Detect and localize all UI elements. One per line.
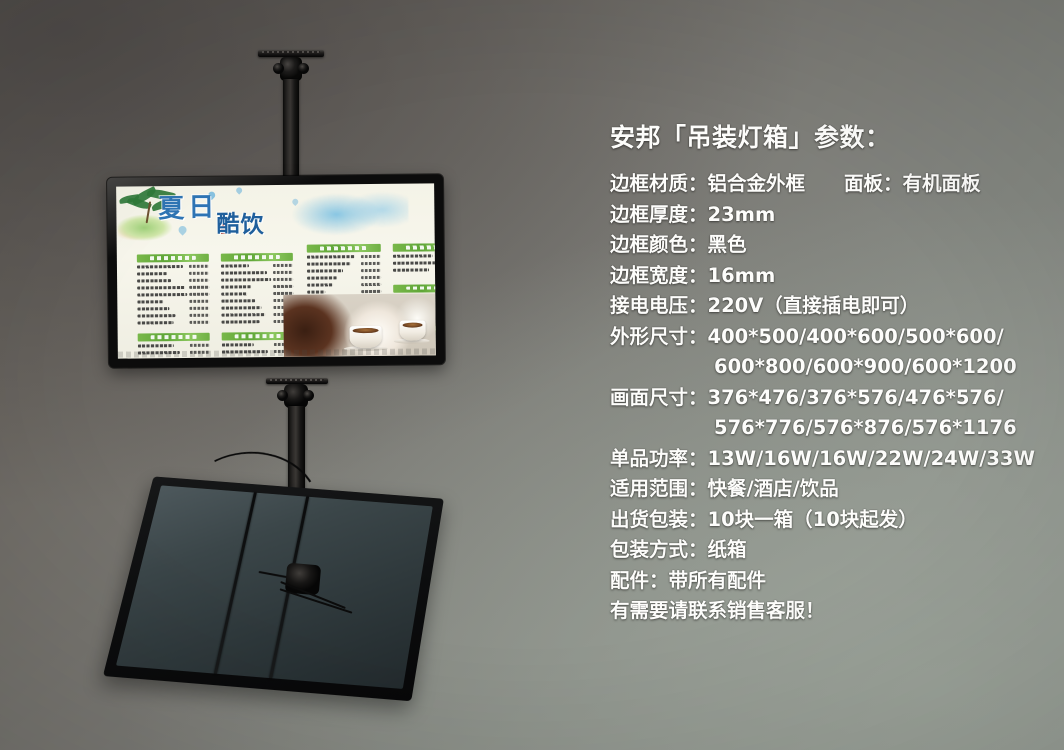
menu-item-row: [137, 292, 209, 297]
spec-line: 配件：带所有配件: [610, 566, 1058, 597]
menu-section: [393, 243, 436, 272]
menu-item-row: [307, 275, 381, 280]
menu-headline: 夏 日 酷 饮: [158, 193, 318, 243]
menu-item-row: [221, 270, 293, 275]
spec-line: 外形尺寸：400*500/400*600/500*600/: [610, 322, 1058, 353]
menu-section-header: [221, 253, 293, 262]
menu-face-panel: 夏 日 酷 饮: [116, 183, 436, 358]
menu-item-row: [138, 320, 210, 325]
specification-panel: 安邦「吊装灯箱」参数： 边框材质：铝合金外框 面板：有机面板 边框厚度：23mm…: [610, 122, 1058, 627]
ceiling-mount-bracket: [256, 50, 326, 180]
menu-item-row: [307, 282, 381, 287]
tilt-knob-right: [298, 63, 309, 74]
spec-line: 边框材质：铝合金外框 面板：有机面板: [610, 169, 1058, 200]
telescopic-pole-upper: [283, 79, 299, 181]
coffee-liquid: [402, 322, 423, 327]
menu-item-row: [138, 357, 210, 359]
menu-section: [137, 254, 210, 325]
menu-section-header: [307, 244, 381, 253]
spec-line-continuation: 576*776/576*876/576*1176: [610, 413, 1058, 444]
page-title: 安邦「吊装灯箱」参数：: [610, 122, 1058, 153]
menu-item-row: [137, 306, 209, 311]
spec-list: 边框材质：铝合金外框 面板：有机面板 边框厚度：23mm 边框颜色：黑色 边框宽…: [610, 169, 1058, 627]
menu-headline-char-1: 夏: [158, 196, 184, 222]
menu-item-row: [308, 356, 382, 358]
coffee-cup-back: [400, 320, 426, 340]
menu-item-row: [221, 263, 293, 268]
spec-line: 接电电压：220V（直接插电即可）: [610, 291, 1058, 322]
spec-line: 边框厚度：23mm: [610, 200, 1058, 231]
menu-item-row: [221, 284, 293, 289]
menu-item-row: [137, 299, 209, 304]
menu-item-row: [221, 277, 293, 282]
spec-line: 边框颜色：黑色: [610, 230, 1058, 261]
coffee-cup-front: [350, 326, 382, 348]
spec-line: 适用范围：快餐/酒店/饮品: [610, 474, 1058, 505]
menu-item-row: [307, 261, 381, 266]
menu-section-header: [393, 284, 436, 293]
menu-item-row: [137, 278, 209, 283]
spec-line: 单品功率：13W/16W/16W/22W/24W/33W: [610, 444, 1058, 475]
spec-line-continuation: 600*800/600*900/600*1200: [610, 352, 1058, 383]
spec-line: 出货包装：10块一箱（10块起发）: [610, 505, 1058, 536]
tilt-knob-right: [303, 390, 314, 401]
tilt-knob-left: [277, 390, 288, 401]
spec-line: 包装方式：纸箱: [610, 535, 1058, 566]
menu-headline-char-3: 酷: [216, 213, 239, 236]
menu-item-row: [393, 267, 436, 272]
coffee-photo: [283, 293, 436, 357]
product-photo-scene: 夏 日 酷 饮: [0, 0, 1064, 750]
menu-item-row: [137, 264, 209, 269]
menu-headline-char-2: 日: [188, 195, 214, 221]
menu-column-left: [137, 254, 210, 359]
menu-section-header: [393, 243, 436, 252]
coffee-liquid: [353, 328, 379, 334]
menu-item-row: [307, 254, 381, 259]
spec-line: 画面尺寸：376*476/376*576/476*576/: [610, 383, 1058, 414]
spec-line: 边框宽度：16mm: [610, 261, 1058, 292]
menu-item-row: [137, 313, 209, 318]
menu-headline-char-4: 饮: [240, 214, 263, 237]
lightbox-back-panel[interactable]: [128, 482, 428, 688]
menu-section-header: [138, 333, 210, 342]
menu-item-row: [393, 260, 436, 265]
illuminated-menu-lightbox[interactable]: 夏 日 酷 饮: [107, 174, 445, 368]
ceiling-plate: [258, 50, 324, 57]
menu-item-row: [393, 253, 436, 258]
menu-section-header: [137, 254, 209, 263]
back-panel-surface: [116, 485, 433, 689]
menu-item-row: [138, 343, 210, 348]
menu-item-row: [137, 271, 209, 276]
menu-item-row: [137, 285, 209, 290]
spec-line: 有需要请联系销售客服！: [610, 596, 1058, 627]
tilt-knob-left: [273, 63, 284, 74]
menu-item-row: [307, 268, 381, 273]
back-panel-frame: [103, 476, 444, 701]
